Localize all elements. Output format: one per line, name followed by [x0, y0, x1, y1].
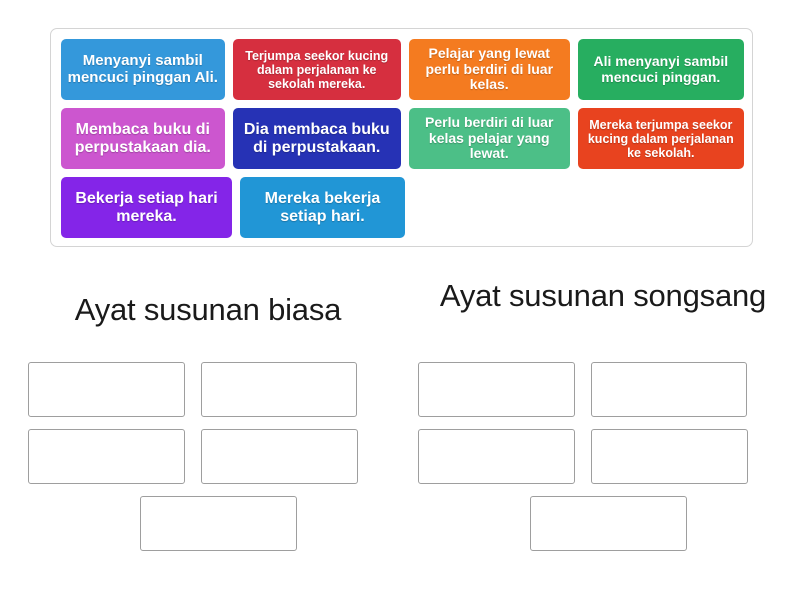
dropzone-row: [28, 496, 408, 551]
dropzone-slot[interactable]: [201, 429, 358, 484]
word-tile-label: Dia membaca buku di perpustakaan.: [239, 121, 395, 157]
word-tile[interactable]: Pelajar yang lewat perlu berdiri di luar…: [409, 39, 570, 100]
tile-row: Menyanyi sambil mencuci pinggan Ali.Terj…: [61, 39, 752, 100]
word-tile[interactable]: Perlu berdiri di luar kelas pelajar yang…: [409, 108, 570, 169]
word-tile-label: Mereka terjumpa seekor kucing dalam perj…: [584, 118, 738, 160]
tile-row: Membaca buku di perpustakaan dia.Dia mem…: [61, 108, 752, 169]
dropzone-slot[interactable]: [591, 429, 748, 484]
word-tile-label: Bekerja setiap hari mereka.: [67, 190, 226, 226]
word-tile-label: Perlu berdiri di luar kelas pelajar yang…: [415, 115, 564, 162]
dropzone-row: [418, 429, 798, 484]
word-tile[interactable]: Menyanyi sambil mencuci pinggan Ali.: [61, 39, 225, 100]
dropzone-column-biasa: [28, 362, 408, 563]
word-tile[interactable]: Mereka terjumpa seekor kucing dalam perj…: [578, 108, 744, 169]
dropzone-slot[interactable]: [28, 362, 185, 417]
tile-row: Bekerja setiap hari mereka.Mereka bekerj…: [61, 177, 752, 238]
word-tile[interactable]: Dia membaca buku di perpustakaan.: [233, 108, 401, 169]
word-tile-label: Ali menyanyi sambil mencuci pinggan.: [584, 54, 738, 85]
word-tile-label: Menyanyi sambil mencuci pinggan Ali.: [67, 53, 219, 87]
dropzone-row: [28, 429, 408, 484]
dropzone-row: [418, 496, 798, 551]
word-tile[interactable]: Membaca buku di perpustakaan dia.: [61, 108, 225, 169]
dropzone-slot[interactable]: [530, 496, 687, 551]
dropzone-slot[interactable]: [591, 362, 747, 417]
dropzone-slot[interactable]: [28, 429, 185, 484]
word-tile[interactable]: Terjumpa seekor kucing dalam perjalanan …: [233, 39, 401, 100]
word-tile-label: Mereka bekerja setiap hari.: [246, 190, 399, 226]
dropzone-slot[interactable]: [418, 429, 575, 484]
category-heading-biasa: Ayat susunan biasa: [8, 292, 408, 328]
dropzone-row: [418, 362, 798, 417]
dropzone-slot[interactable]: [140, 496, 297, 551]
category-heading-songsang: Ayat susunan songsang: [408, 278, 798, 314]
dropzone-slot[interactable]: [418, 362, 575, 417]
word-tile-tray: Menyanyi sambil mencuci pinggan Ali.Terj…: [50, 28, 753, 247]
word-tile-label: Terjumpa seekor kucing dalam perjalanan …: [239, 49, 395, 91]
word-tile[interactable]: Ali menyanyi sambil mencuci pinggan.: [578, 39, 744, 100]
dropzone-slot[interactable]: [201, 362, 357, 417]
dropzone-row: [28, 362, 408, 417]
word-tile-label: Membaca buku di perpustakaan dia.: [67, 121, 219, 157]
word-tile-label: Pelajar yang lewat perlu berdiri di luar…: [415, 46, 564, 93]
word-tile[interactable]: Bekerja setiap hari mereka.: [61, 177, 232, 238]
word-tile[interactable]: Mereka bekerja setiap hari.: [240, 177, 405, 238]
dropzone-column-songsang: [418, 362, 798, 563]
